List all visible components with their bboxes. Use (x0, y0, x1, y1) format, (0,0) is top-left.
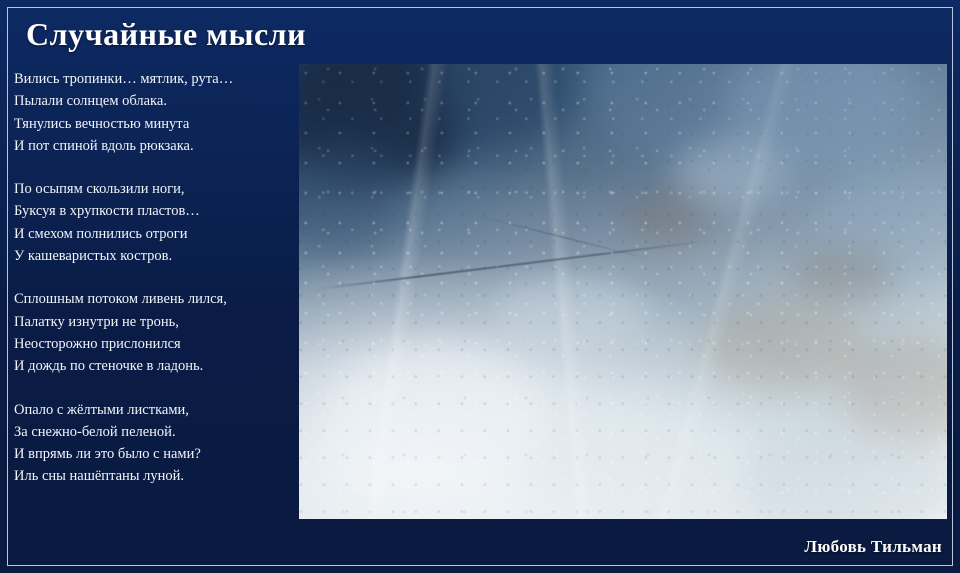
poem-line: Опало с жёлтыми листками, (14, 399, 294, 421)
poem-line: По осыпям скользили ноги, (14, 178, 294, 200)
poem-stanza: Вились тропинки… мятлик, рута… Пылали со… (14, 68, 294, 157)
poem-stanza: Сплошным потоком ливень лился, Палатку и… (14, 288, 294, 377)
poem-text: Вились тропинки… мятлик, рута… Пылали со… (14, 68, 294, 509)
poem-line: И смехом полнились отроги (14, 223, 294, 245)
author-credit: Любовь Тильман (804, 537, 942, 557)
page-title: Случайные мысли (26, 16, 306, 53)
poem-line: Сплошным потоком ливень лился, (14, 288, 294, 310)
poem-line: Неосторожно прислонился (14, 333, 294, 355)
poem-line: Иль сны нашёптаны луной. (14, 465, 294, 487)
poem-line: Палатку изнутри не тронь, (14, 311, 294, 333)
photo-haze-vignette (299, 64, 947, 519)
poem-line: И дождь по стеночке в ладонь. (14, 355, 294, 377)
poem-line: У кашеваристых костров. (14, 245, 294, 267)
poem-line: Вились тропинки… мятлик, рута… (14, 68, 294, 90)
poem-line: И пот спиной вдоль рюкзака. (14, 135, 294, 157)
poem-line: За снежно-белой пеленой. (14, 421, 294, 443)
poem-line: Буксуя в хрупкости пластов… (14, 200, 294, 222)
poem-line: И впрямь ли это было с нами? (14, 443, 294, 465)
poem-stanza: По осыпям скользили ноги, Буксуя в хрупк… (14, 178, 294, 267)
fogged-window-photo (299, 64, 947, 519)
poem-line: Тянулись вечностью минута (14, 113, 294, 135)
poem-stanza: Опало с жёлтыми листками, За снежно-бело… (14, 399, 294, 488)
poem-line: Пылали солнцем облака. (14, 90, 294, 112)
poster-page: Случайные мысли Вились тропинки… мятлик,… (0, 0, 960, 573)
